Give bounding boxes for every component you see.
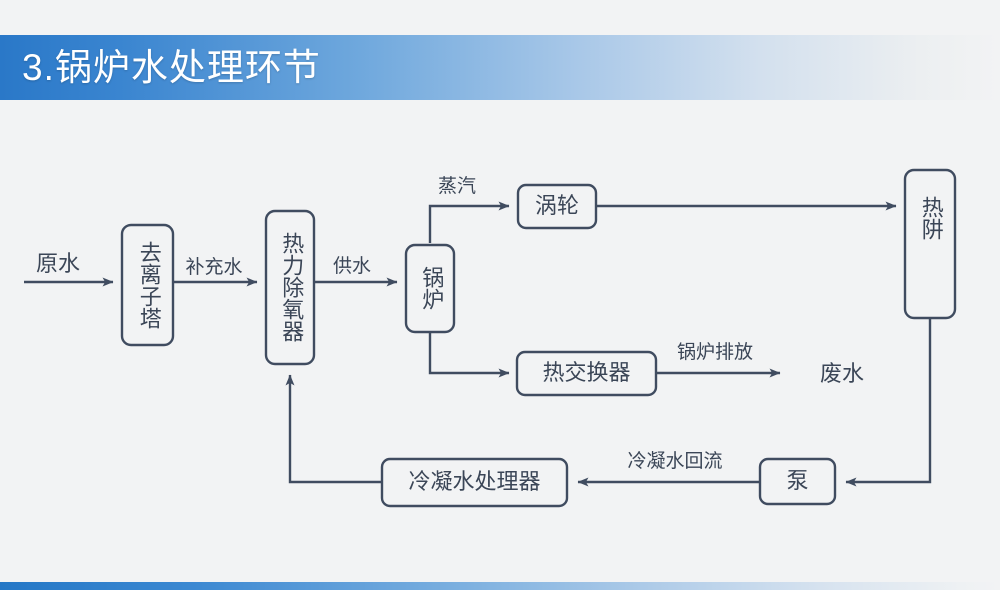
node-heat-sink-box[interactable] <box>905 170 955 318</box>
node-heat-exchanger[interactable]: 热交换器 <box>517 352 656 395</box>
node-heat-exchanger-label: 热交换器 <box>542 360 630 385</box>
edge-label-feedwater: 供水 <box>333 255 371 277</box>
label-wastewater: 废水 <box>820 361 864 386</box>
node-condensate-unit-label: 冷凝水处理器 <box>408 469 540 494</box>
edge-condensate-to-deaerator <box>290 375 381 482</box>
edge-label-boiler-blowdown: 锅炉排放 <box>677 341 753 363</box>
node-boiler-label: 锅炉 <box>419 266 444 310</box>
diagram-svg: 去离子塔 热力除氧器 锅炉 涡轮 热交换器 热阱 <box>0 100 1000 582</box>
node-condensate-unit[interactable]: 冷凝水处理器 <box>382 459 567 506</box>
node-pump[interactable]: 泵 <box>760 459 835 504</box>
node-deaerator[interactable]: 热力除氧器 <box>266 211 314 364</box>
node-turbine-label: 涡轮 <box>535 193 579 218</box>
label-raw-water: 原水 <box>36 251 80 276</box>
footer-band <box>0 582 1000 590</box>
node-turbine[interactable]: 涡轮 <box>518 185 596 228</box>
node-deionizer[interactable]: 去离子塔 <box>122 225 173 345</box>
node-deaerator-label: 热力除氧器 <box>279 232 304 342</box>
node-heat-sink[interactable]: 热阱 <box>905 170 955 318</box>
process-flow-diagram: 去离子塔 热力除氧器 锅炉 涡轮 热交换器 热阱 <box>0 100 1000 582</box>
edge-boiler-to-exchanger <box>430 333 509 373</box>
node-pump-label: 泵 <box>786 468 808 493</box>
page-title: 3.锅炉水处理环节 <box>22 44 321 92</box>
node-boiler[interactable]: 锅炉 <box>406 245 454 332</box>
edge-label-steam: 蒸汽 <box>438 175 476 197</box>
node-deionizer-label: 去离子塔 <box>137 241 162 329</box>
edge-label-condensate-return: 冷凝水回流 <box>627 450 722 472</box>
edge-heat-sink-to-pump <box>846 319 930 482</box>
node-heat-sink-label: 热阱 <box>919 196 944 240</box>
edge-label-makeup-water: 补充水 <box>185 256 242 278</box>
edge-boiler-to-turbine <box>430 206 509 243</box>
slide-canvas: 3.锅炉水处理环节 <box>0 0 1000 590</box>
